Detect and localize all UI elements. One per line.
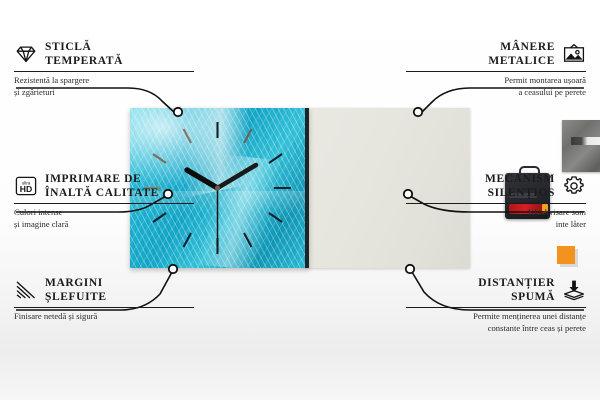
feature-title: MARGINI ȘLEFUITE — [45, 276, 107, 304]
gear-icon — [562, 174, 586, 198]
feature-rule — [14, 203, 194, 204]
connector-dot-distantier — [406, 265, 414, 273]
connector-dot-sticla — [174, 108, 182, 116]
picture-hanger-icon — [562, 42, 586, 66]
feature-heading: MARGINI ȘLEFUITE — [14, 276, 194, 304]
feature-distantier-spuma: DISTANȚIER SPUMĂ Permite menținerea unei… — [406, 276, 586, 334]
feature-margini-slefuite: MARGINI ȘLEFUITE Finisare netedă și sigu… — [14, 276, 194, 323]
feature-imprimare-inalta-calitate: ultra HD IMPRIMARE DE ÎNALTĂ CALITATE Cu… — [14, 172, 194, 230]
beveled-edge-lines-icon — [14, 278, 38, 302]
feature-subtitle: Klockvisare som inte låter — [406, 207, 586, 230]
feature-title: MECANISM SILENȚIOS — [485, 172, 555, 200]
feature-heading: ultra HD IMPRIMARE DE ÎNALTĂ CALITATE — [14, 172, 194, 200]
feature-rule — [406, 71, 586, 72]
connector-dot-margini — [169, 265, 177, 273]
feature-heading: MECANISM SILENȚIOS — [406, 172, 586, 200]
feature-heading: STICLĂ TEMPERATĂ — [14, 40, 194, 68]
svg-text:HD: HD — [20, 184, 32, 194]
feature-subtitle: Permite menținerea unei distanțe constan… — [406, 311, 586, 334]
feature-sticla-temperata: STICLĂ TEMPERATĂ Rezistentă la spargere … — [14, 40, 194, 98]
feature-rule — [406, 307, 586, 308]
connector-dot-manere — [414, 108, 422, 116]
infographic-canvas: STICLĂ TEMPERATĂ Rezistentă la spargere … — [0, 0, 600, 400]
feature-title: IMPRIMARE DE ÎNALTĂ CALITATE — [45, 172, 159, 200]
feature-manere-metalice: MÂNERE METALICE Permit montarea ușoară a… — [406, 40, 586, 98]
feature-subtitle: Rezistentă la spargere și zgârieturi — [14, 75, 194, 98]
ultra-hd-badge-icon: ultra HD — [14, 174, 38, 198]
feature-rule — [14, 307, 194, 308]
feature-title: DISTANȚIER SPUMĂ — [478, 276, 555, 304]
feature-subtitle: Culori intense și imagine clară — [14, 207, 194, 230]
feature-title: STICLĂ TEMPERATĂ — [45, 40, 123, 68]
arrow-down-onto-pad-icon — [562, 278, 586, 302]
feature-title: MÂNERE METALICE — [488, 40, 555, 68]
feature-rule — [406, 203, 586, 204]
feature-heading: DISTANȚIER SPUMĂ — [406, 276, 586, 304]
feature-mecanism-silentios: MECANISM SILENȚIOS Klockvisare som inte … — [406, 172, 586, 230]
feature-subtitle: Permit montarea ușoară a ceasului pe per… — [406, 75, 586, 98]
feature-subtitle: Finisare netedă și sigură — [14, 311, 194, 323]
diamond-icon — [14, 42, 38, 66]
feature-rule — [14, 71, 194, 72]
feature-heading: MÂNERE METALICE — [406, 40, 586, 68]
